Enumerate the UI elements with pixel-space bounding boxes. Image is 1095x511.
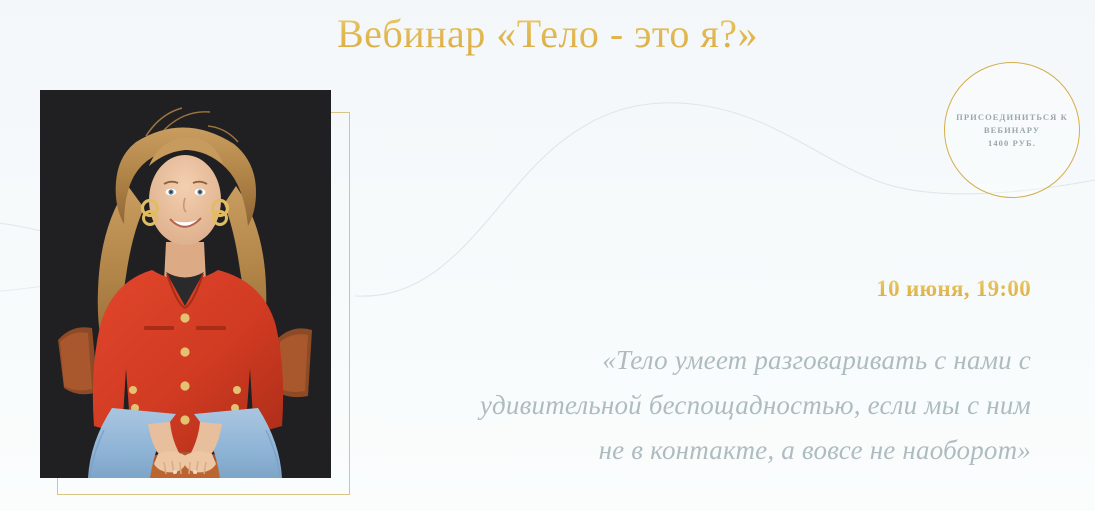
portrait-photo-block [40,90,352,496]
event-date: 10 июня, 19:00 [876,274,1031,304]
cta-line-1: Присоединиться к [956,111,1068,124]
quote-line-2: удивительной беспощадностью, если мы с н… [411,383,1031,428]
quote-line-1: «Тело умеет разговаривать с нами с [411,338,1031,383]
join-webinar-badge-text: Присоединиться к вебинару 1400 руб. [946,111,1078,150]
join-webinar-badge[interactable]: Присоединиться к вебинару 1400 руб. [944,62,1080,198]
cta-line-2: вебинару [956,124,1068,137]
page-title: Вебинар «Тело - это я?» [0,8,1095,60]
cta-line-3: 1400 руб. [956,137,1068,150]
quote-line-3: не в контакте, а вовсе не наоборот» [411,428,1031,473]
quote-text: «Тело умеет разговаривать с нами с удиви… [411,338,1031,473]
webinar-promo-banner: Вебинар «Тело - это я?» [0,0,1095,511]
portrait-illustration [40,90,331,478]
avatar [40,90,331,478]
